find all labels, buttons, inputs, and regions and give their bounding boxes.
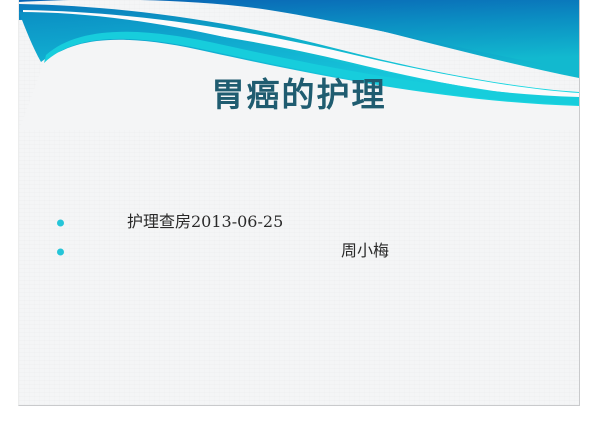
page-title: 胃癌的护理	[212, 76, 387, 114]
bullet-list: 护理查房2013-06-25 周小梅	[41, 208, 561, 266]
slide-root: 胃癌的护理 护理查房2013-06-25 周小梅	[0, 0, 600, 423]
list-item[interactable]: 护理查房2013-06-25	[41, 208, 561, 237]
list-item[interactable]: 周小梅	[41, 237, 561, 266]
list-item-label: 周小梅	[341, 241, 389, 262]
list-item-label: 护理查房2013-06-25	[127, 212, 283, 233]
slide-canvas: 胃癌的护理 护理查房2013-06-25 周小梅	[18, 0, 580, 406]
title-block: 胃癌的护理	[19, 76, 579, 114]
bullet-dot-icon	[57, 219, 64, 226]
bullet-dot-icon	[57, 248, 64, 255]
